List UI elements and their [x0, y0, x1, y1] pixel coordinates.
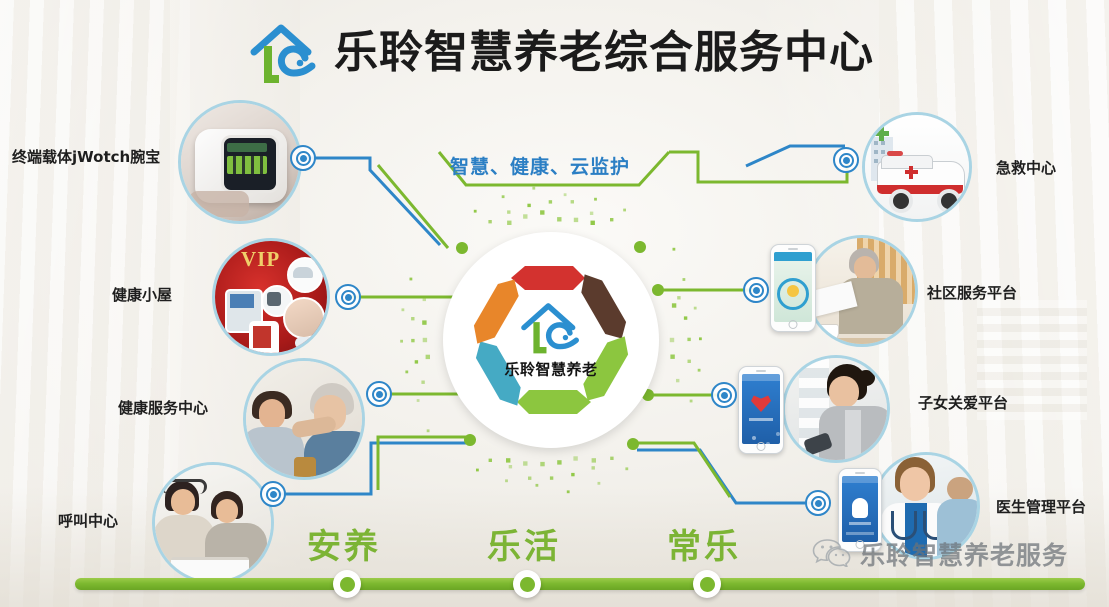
center-brand-text: 乐聆智慧养老 — [486, 359, 616, 380]
tagline: 智慧、健康、云监护 — [450, 152, 630, 179]
label-terminal: 终端载体jWotch腕宝 — [12, 146, 160, 167]
center-brand: 乐聆智慧养老 — [486, 301, 616, 380]
bottom-word-0: 安养 — [307, 519, 381, 568]
bottom-word-2: 常乐 — [667, 519, 741, 568]
smart-watch-photo[interactable] — [178, 100, 302, 224]
label-doctor: 医生管理平台 — [996, 496, 1086, 517]
infographic-canvas: 乐聆智慧养老综合服务中心 — [0, 0, 1109, 607]
label-family-care: 子女关爱平台 — [918, 392, 1008, 413]
wechat-icon — [812, 537, 852, 572]
ambulance-photo[interactable] — [862, 112, 972, 222]
elderly-reading-photo[interactable] — [806, 235, 918, 347]
center-hub: 乐聆智慧养老 — [443, 232, 659, 448]
node-dot-terminal[interactable] — [290, 145, 316, 171]
health-devices-photo[interactable]: VIP — [212, 238, 330, 356]
page-title: 乐聆智慧养老综合服务中心 — [334, 31, 874, 75]
bottom-marker-1[interactable] — [513, 570, 541, 598]
node-dot-family-care[interactable] — [711, 382, 737, 408]
caregiver-elderly-photo[interactable] — [243, 358, 365, 480]
node-dot-emergency[interactable] — [833, 147, 859, 173]
bottom-word-1: 乐活 — [487, 519, 561, 568]
house-leaf-logo-icon — [248, 22, 320, 84]
label-emergency: 急救中心 — [996, 157, 1056, 178]
bottom-marker-0[interactable] — [333, 570, 361, 598]
node-dot-doctor[interactable] — [805, 490, 831, 516]
call-center-agents-photo[interactable] — [152, 462, 274, 584]
label-community: 社区服务平台 — [927, 282, 1017, 303]
node-dot-call-center[interactable] — [260, 481, 286, 507]
phone-family-care[interactable] — [738, 366, 784, 454]
node-dot-health-service[interactable] — [366, 381, 392, 407]
watermark: 乐聆智慧养老服务 — [812, 536, 1068, 572]
header: 乐聆智慧养老综合服务中心 — [248, 22, 874, 84]
woman-phone-photo[interactable] — [782, 355, 890, 463]
label-health-hut: 健康小屋 — [112, 284, 172, 305]
node-dot-health-hut[interactable] — [335, 284, 361, 310]
label-call-center: 呼叫中心 — [58, 510, 118, 531]
node-dot-community[interactable] — [743, 277, 769, 303]
bottom-marker-2[interactable] — [693, 570, 721, 598]
bottom-progress-bar — [75, 578, 1085, 590]
label-health-service: 健康服务中心 — [118, 397, 208, 418]
watermark-text: 乐聆智慧养老服务 — [860, 536, 1068, 572]
house-leaf-logo-icon — [516, 301, 586, 357]
phone-community[interactable] — [770, 244, 816, 332]
